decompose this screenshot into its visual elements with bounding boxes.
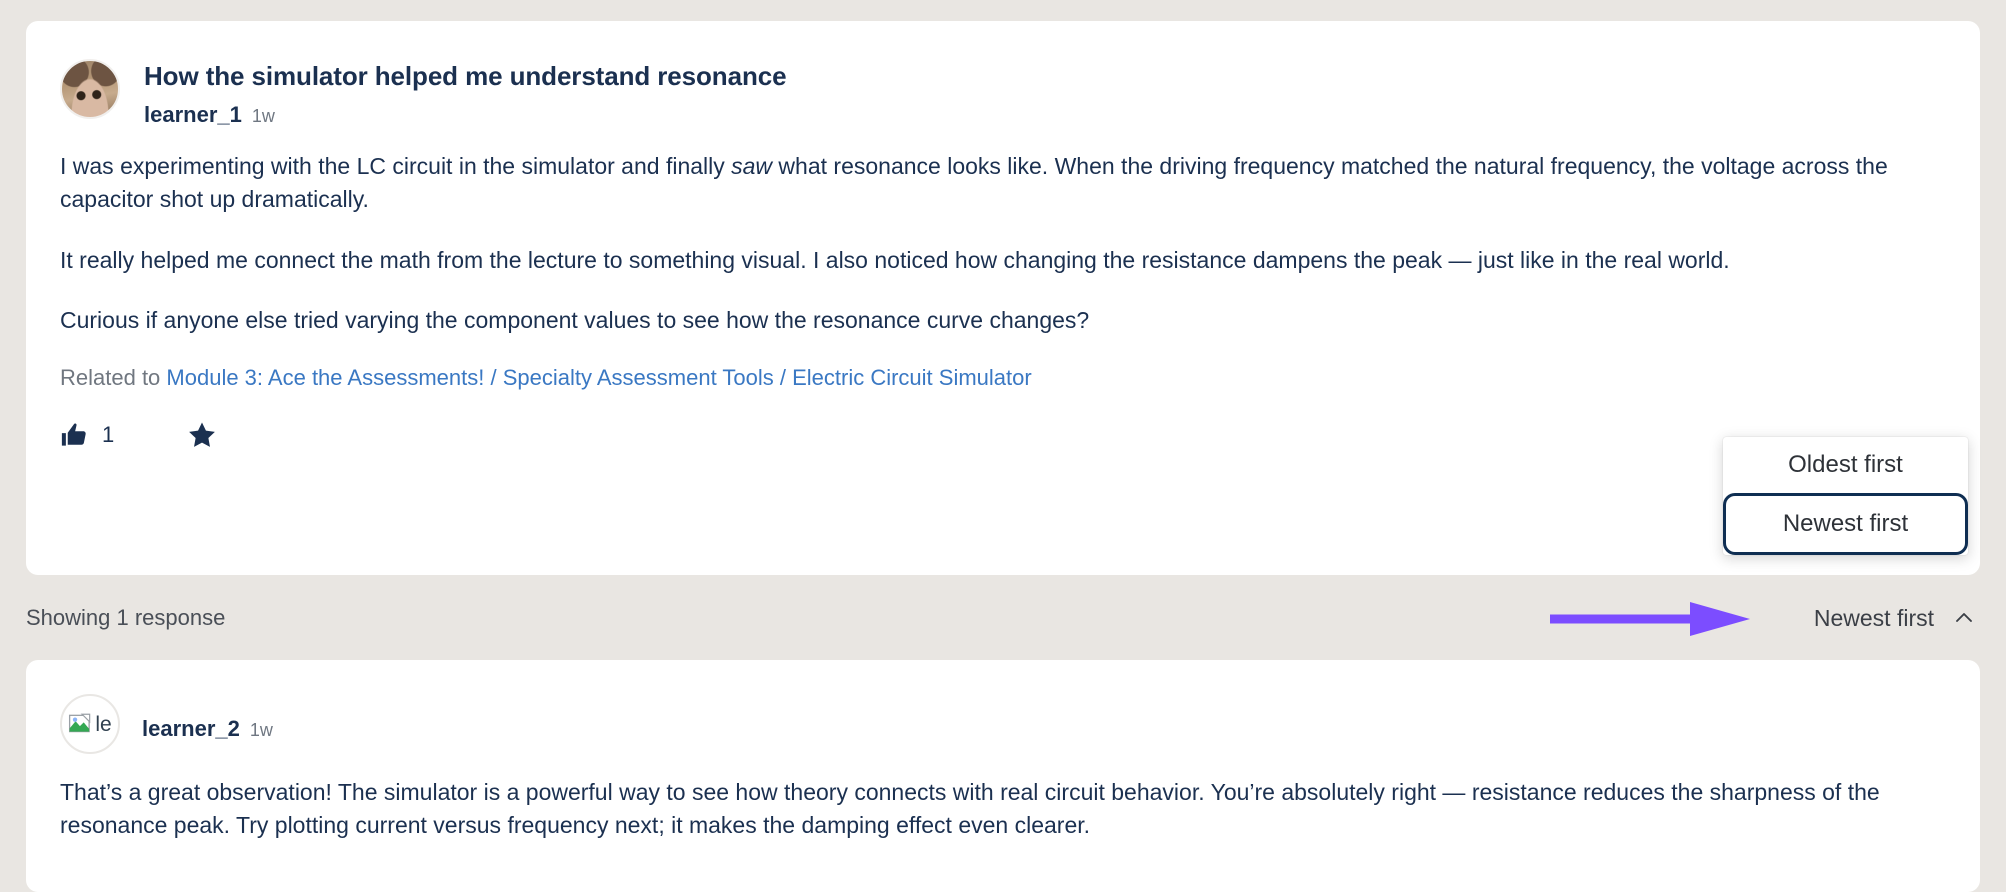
- post-actions: 1: [60, 419, 1946, 451]
- post-paragraph-2: It really helped me connect the math fro…: [60, 244, 1940, 277]
- favorite-button[interactable]: [186, 419, 218, 451]
- reply-timestamp: 1w: [250, 720, 273, 741]
- sort-order-selected-value: Newest first: [1814, 605, 1934, 632]
- post-header: How the simulator helped me understand r…: [60, 59, 1946, 128]
- post-card: How the simulator helped me understand r…: [26, 21, 1980, 575]
- related-breadcrumb-link[interactable]: Module 3: Ace the Assessments! / Special…: [166, 365, 1031, 390]
- responses-toolbar: Showing 1 response Newest first: [26, 596, 1980, 640]
- post-body: I was experimenting with the LC circuit …: [60, 150, 1946, 391]
- page-title[interactable]: How the simulator helped me understand r…: [144, 61, 786, 92]
- avatar-alt-text: le: [95, 714, 111, 735]
- related-prefix: Related to: [60, 365, 166, 390]
- like-button[interactable]: 1: [60, 420, 114, 450]
- thumbs-up-icon: [60, 420, 90, 450]
- related-line: Related to Module 3: Ace the Assessments…: [60, 365, 1946, 391]
- avatar[interactable]: le: [60, 694, 120, 754]
- reply-body: That’s a great observation! The simulato…: [60, 776, 1946, 841]
- post-paragraph-3: Curious if anyone else tried varying the…: [60, 304, 1940, 337]
- reply-text: That’s a great observation! The simulato…: [60, 776, 1940, 841]
- post-timestamp: 1w: [252, 106, 275, 127]
- like-count: 1: [102, 422, 114, 448]
- sort-order-menu: Oldest first Newest first: [1723, 437, 1968, 555]
- response-count-label: Showing 1 response: [26, 605, 225, 631]
- avatar[interactable]: [60, 59, 120, 119]
- paragraph-1-emphasis: saw: [731, 153, 772, 179]
- chevron-up-icon: [1952, 606, 1976, 630]
- reply-card: le learner_2 1w That’s a great observati…: [26, 660, 1980, 892]
- reply-author[interactable]: learner_2: [142, 716, 240, 742]
- sort-order-dropdown-trigger[interactable]: Newest first: [1814, 605, 1980, 632]
- post-author[interactable]: learner_1: [144, 102, 242, 128]
- reply-header: le learner_2 1w: [60, 694, 1946, 754]
- post-paragraph-1: I was experimenting with the LC circuit …: [60, 150, 1940, 215]
- sort-option-newest-first[interactable]: Newest first: [1723, 493, 1968, 555]
- star-icon: [186, 419, 218, 451]
- reply-byline: learner_2 1w: [142, 716, 273, 742]
- byline: learner_1 1w: [144, 102, 786, 128]
- post-header-text: How the simulator helped me understand r…: [144, 59, 786, 128]
- broken-image-icon: [68, 711, 94, 737]
- paragraph-1-part-a: I was experimenting with the LC circuit …: [60, 153, 731, 179]
- sort-option-oldest-first[interactable]: Oldest first: [1723, 437, 1968, 493]
